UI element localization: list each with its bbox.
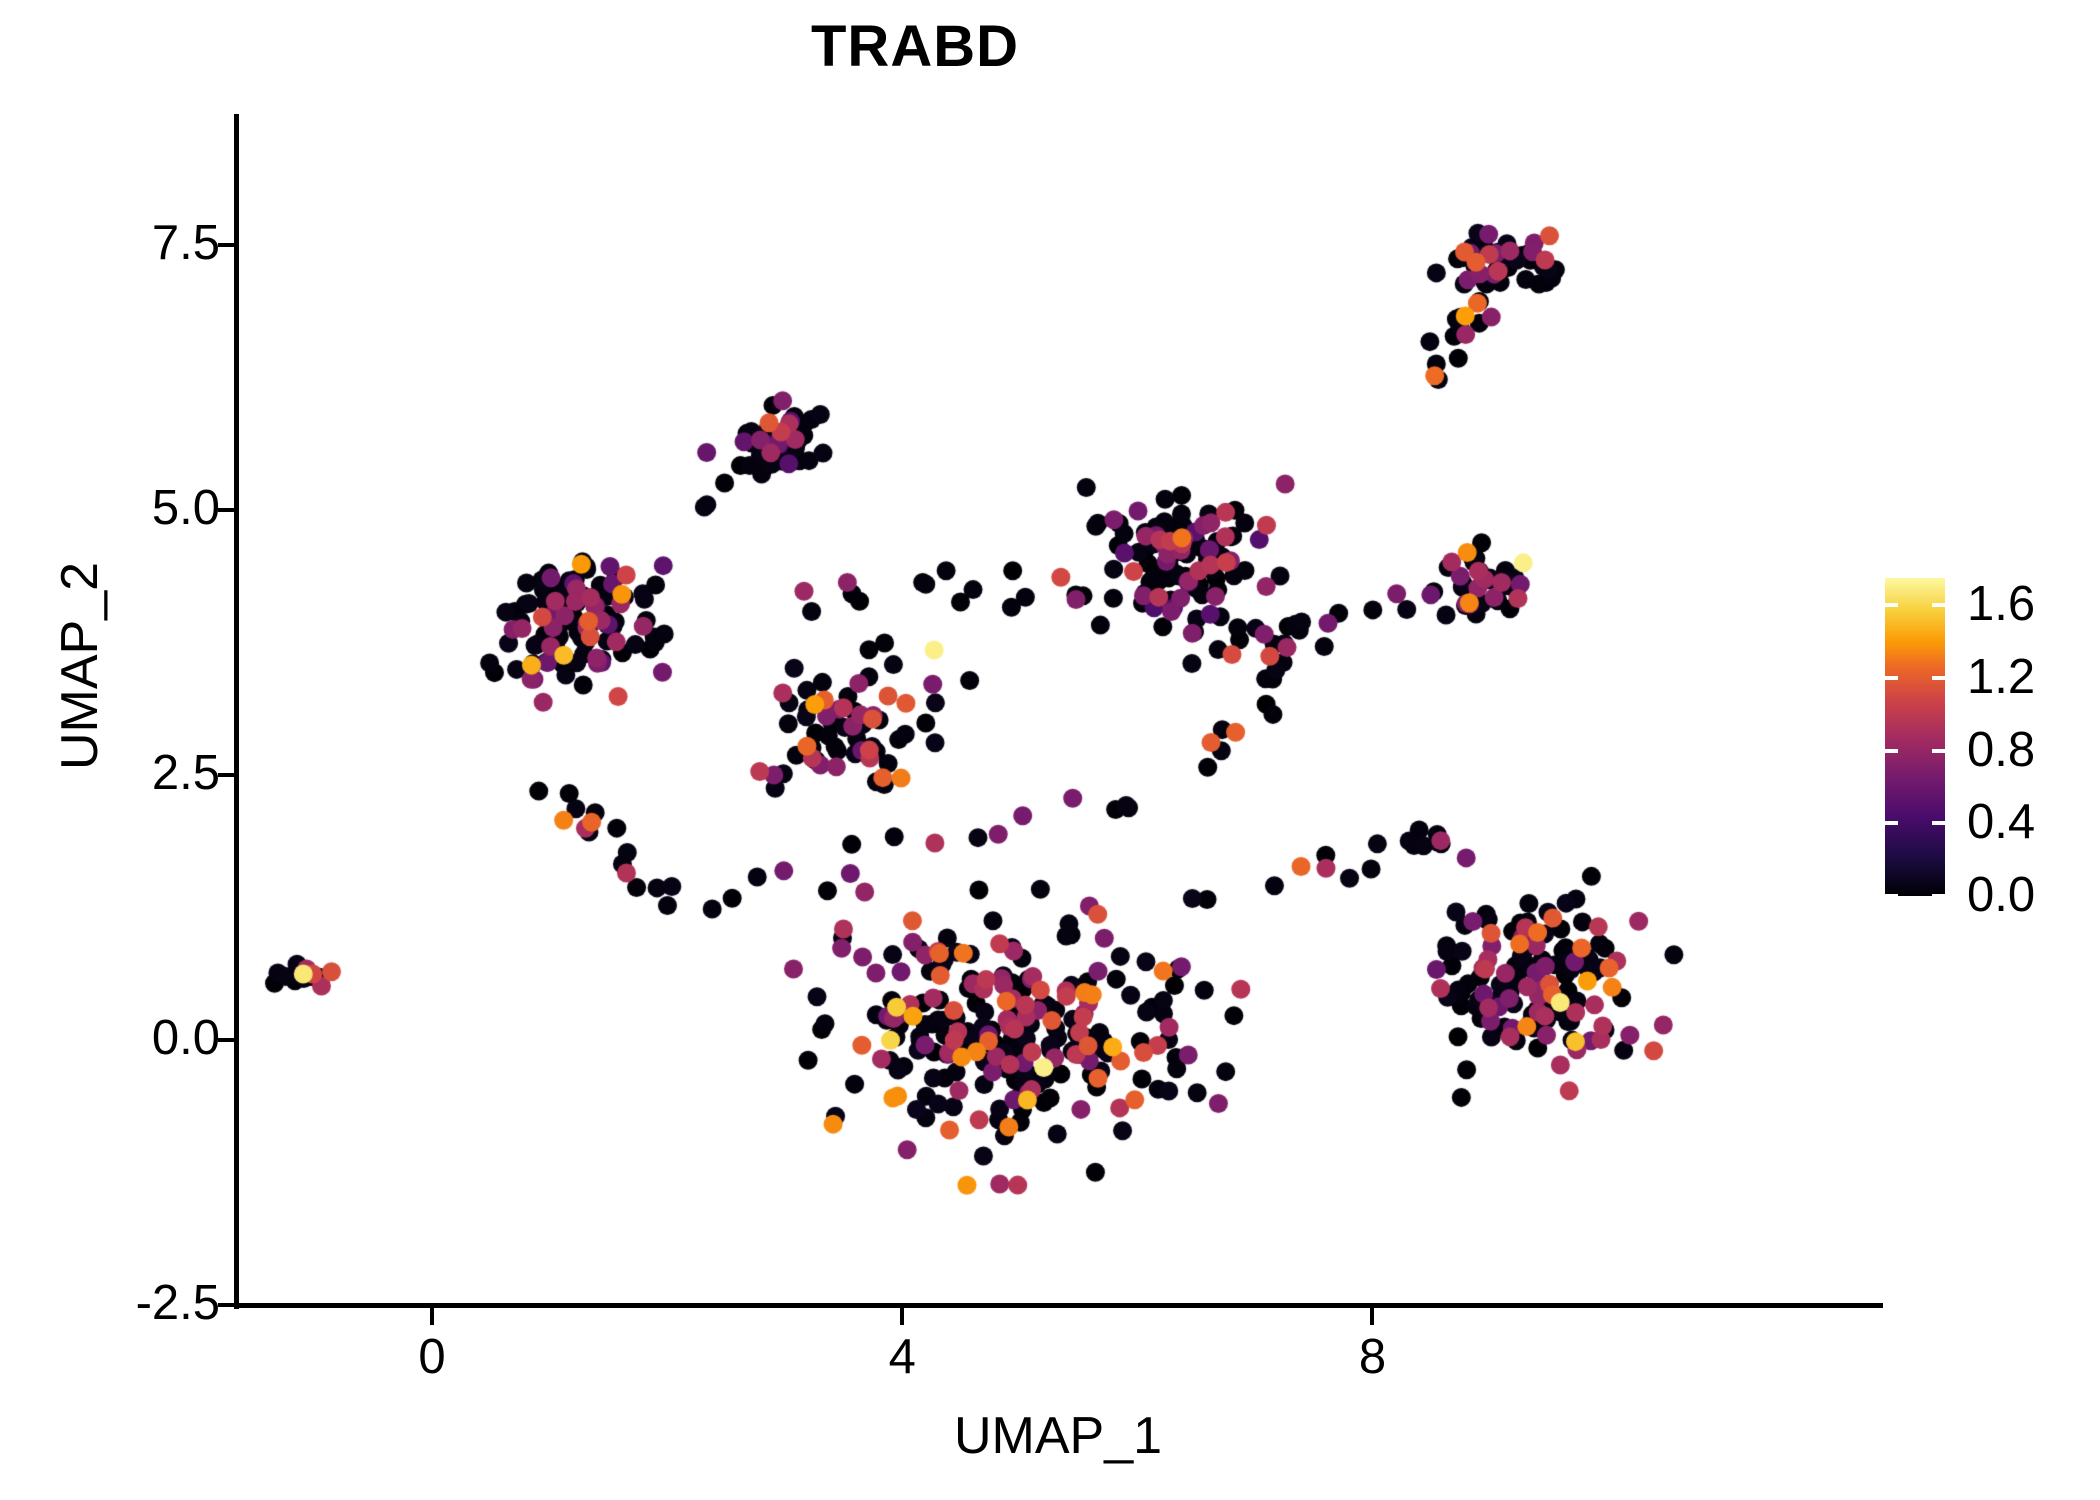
scatter-plot-area bbox=[238, 118, 1878, 1305]
x-tick-mark bbox=[430, 1308, 434, 1325]
x-axis-line bbox=[234, 1303, 1883, 1308]
x-tick-mark bbox=[1370, 1308, 1374, 1325]
legend-tick-mark bbox=[1885, 894, 1898, 898]
y-tick-label: 5.0 bbox=[152, 484, 220, 533]
y-tick-label: 0.0 bbox=[152, 1014, 220, 1063]
y-axis-title: UMAP_2 bbox=[54, 456, 106, 876]
x-tick-label: 0 bbox=[372, 1333, 492, 1382]
y-tick-mark bbox=[218, 1303, 234, 1307]
y-tick-mark bbox=[218, 773, 234, 777]
legend-tick-mark bbox=[1932, 603, 1945, 607]
y-axis-line bbox=[234, 114, 239, 1309]
legend-colorbar bbox=[1885, 578, 1945, 896]
x-axis-title: UMAP_1 bbox=[238, 1410, 1878, 1462]
x-tick-label: 4 bbox=[842, 1333, 962, 1382]
legend-tick-mark bbox=[1885, 821, 1898, 825]
legend-tick-mark bbox=[1885, 749, 1898, 753]
y-tick-label: 2.5 bbox=[152, 749, 220, 798]
legend-tick-label: 0.0 bbox=[1967, 871, 2035, 920]
y-tick-mark bbox=[218, 508, 234, 512]
legend-tick-mark bbox=[1885, 603, 1898, 607]
page-title: TRABD bbox=[0, 18, 1830, 76]
legend-tick-mark bbox=[1932, 821, 1945, 825]
legend-tick-label: 1.2 bbox=[1967, 653, 2035, 702]
legend-tick-mark bbox=[1932, 676, 1945, 680]
y-tick-label: 7.5 bbox=[152, 219, 220, 268]
plot-page: TRABD 7.55.02.50.0-2.5 048 UMAP_1 UMAP_2… bbox=[0, 0, 2100, 1500]
color-legend: 1.61.20.80.40.0 bbox=[1885, 560, 2095, 920]
y-tick-label: -2.5 bbox=[136, 1279, 220, 1328]
legend-tick-label: 0.4 bbox=[1967, 798, 2035, 847]
legend-tick-mark bbox=[1932, 749, 1945, 753]
x-tick-label: 8 bbox=[1312, 1333, 1432, 1382]
plot-panel bbox=[238, 118, 1878, 1305]
legend-tick-mark bbox=[1932, 894, 1945, 898]
y-tick-mark bbox=[218, 243, 234, 247]
legend-tick-label: 0.8 bbox=[1967, 726, 2035, 775]
y-tick-mark bbox=[218, 1038, 234, 1042]
legend-tick-mark bbox=[1885, 676, 1898, 680]
x-tick-mark bbox=[900, 1308, 904, 1325]
legend-tick-label: 1.6 bbox=[1967, 580, 2035, 629]
